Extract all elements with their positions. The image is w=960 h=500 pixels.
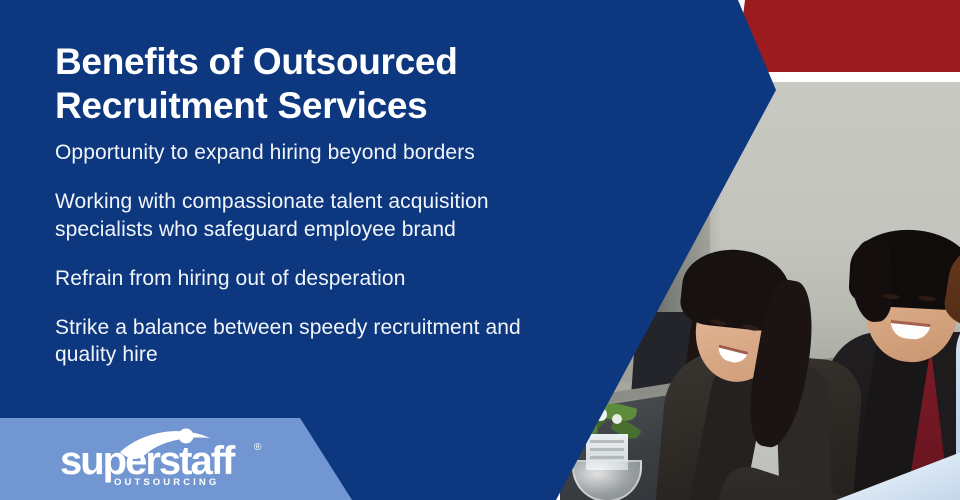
list-item: Refrain from hiring out of desperation xyxy=(55,265,575,292)
list-item: Opportunity to expand hiring beyond bord… xyxy=(55,139,575,166)
page-title: Benefits of Outsourced Recruitment Servi… xyxy=(55,40,575,127)
superstaff-logo-svg: superstaff ® OUTSOURCING xyxy=(58,428,298,486)
red-accent-block xyxy=(736,0,960,72)
benefits-list: Opportunity to expand hiring beyond bord… xyxy=(55,139,575,391)
superstaff-logo: superstaff ® OUTSOURCING xyxy=(58,428,298,486)
list-item: Working with compassionate talent acquis… xyxy=(55,188,575,243)
logo-tagline: OUTSOURCING xyxy=(114,477,219,486)
logo-trademark-symbol: ® xyxy=(254,442,262,453)
list-item: Strike a balance between speedy recruitm… xyxy=(55,314,575,369)
page-title-line-2: Recruitment Services xyxy=(55,85,427,126)
page-title-line-1: Benefits of Outsourced xyxy=(55,41,458,82)
slide-canvas: Benefits of Outsourced Recruitment Servi… xyxy=(0,0,960,500)
